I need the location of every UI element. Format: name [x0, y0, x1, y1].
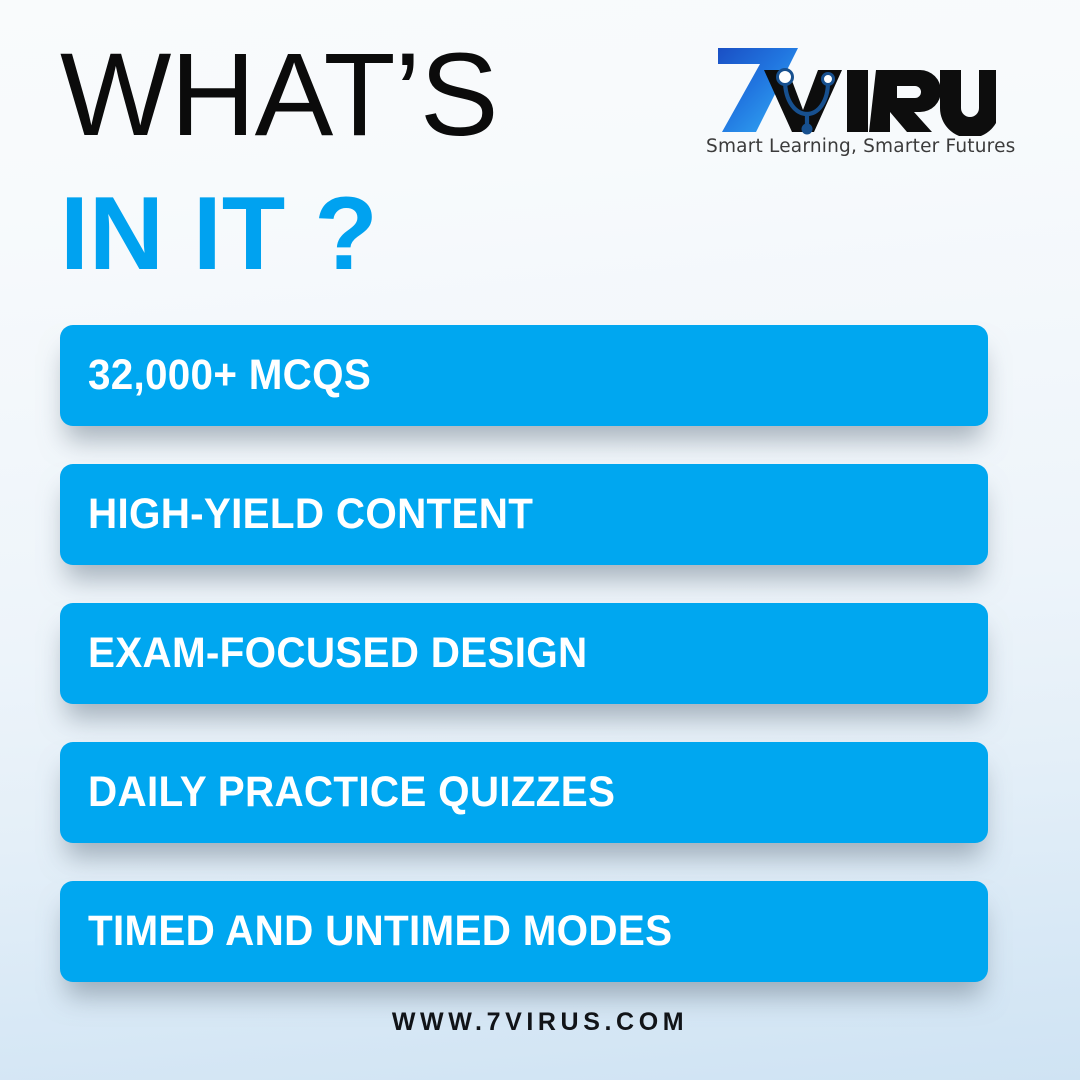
logo-mark-svg: [706, 44, 996, 136]
feature-pill[interactable]: HIGH-YIELD CONTENT: [60, 464, 988, 565]
feature-pill[interactable]: EXAM-FOCUSED DESIGN: [60, 603, 988, 704]
feature-pill-label: TIMED AND UNTIMED MODES: [88, 907, 672, 956]
brand-tagline: Smart Learning, Smarter Futures: [706, 136, 996, 157]
stethoscope-earpiece-secondary-icon: [823, 74, 834, 85]
brand-logo: Smart Learning, Smarter Futures: [706, 44, 996, 169]
logo-wordmark-virus: [764, 70, 996, 136]
poster-canvas: Smart Learning, Smarter Futures WHAT’S I…: [0, 0, 1080, 1080]
feature-pill-label: EXAM-FOCUSED DESIGN: [88, 629, 587, 678]
feature-pill-label: HIGH-YIELD CONTENT: [88, 490, 533, 539]
footer-website-url[interactable]: WWW.7VIRUS.COM: [0, 1008, 1080, 1037]
feature-pill-label: 32,000+ MCQS: [88, 351, 371, 400]
page-title-line-2: IN IT ?: [60, 182, 378, 286]
feature-pill[interactable]: TIMED AND UNTIMED MODES: [60, 881, 988, 982]
feature-pill[interactable]: 32,000+ MCQS: [60, 325, 988, 426]
stethoscope-earpiece-icon: [778, 70, 793, 85]
feature-list: 32,000+ MCQS HIGH-YIELD CONTENT EXAM-FOC…: [60, 325, 988, 982]
page-title-line-1: WHAT’S: [60, 36, 498, 154]
feature-pill[interactable]: DAILY PRACTICE QUIZZES: [60, 742, 988, 843]
feature-pill-label: DAILY PRACTICE QUIZZES: [88, 768, 615, 817]
